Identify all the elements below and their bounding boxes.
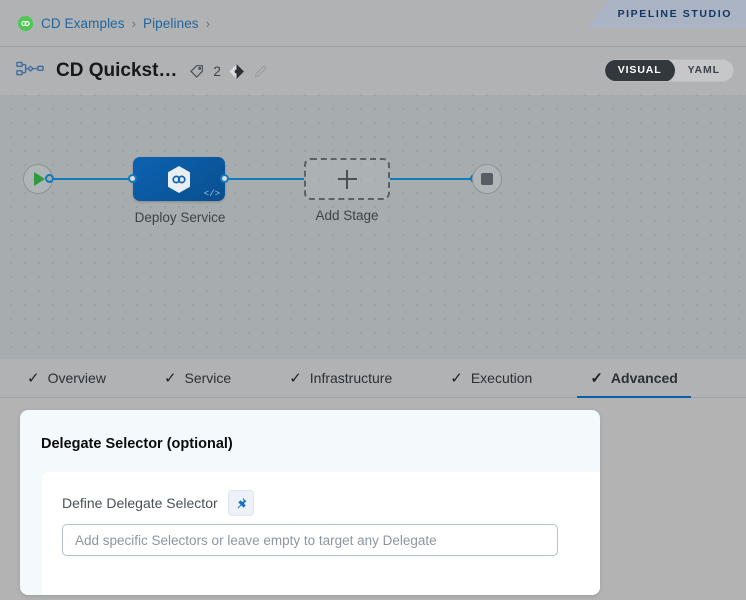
tab-service[interactable]: ✓ Service [151,359,244,398]
deployment-hexagon-icon [166,165,192,194]
tag-count: 2 [213,64,221,79]
pipeline-canvas[interactable]: </> Deploy Service Add Stage [0,95,746,359]
delegate-selector-panel: Delegate Selector (optional) Define Dele… [20,410,600,595]
start-node-port[interactable] [45,174,54,183]
stage-yaml-badge: </> [204,189,220,199]
plus-icon-vertical [346,170,348,189]
stage-tab-bar: ✓ Overview ✓ Service ✓ Infrastructure ✓ … [0,359,746,398]
check-icon: ✓ [450,371,463,386]
deploy-node-output-port[interactable] [220,174,229,183]
tab-infrastructure-label: Infrastructure [310,370,392,386]
stage-label-deploy-service: Deploy Service [110,210,250,225]
stage-node-deploy-service[interactable]: </> [133,157,225,201]
pipeline-studio-ribbon: PIPELINE STUDIO [588,0,746,28]
git-diamond-icon[interactable] [228,63,245,80]
delegate-selector-title: Delegate Selector (optional) [20,410,600,452]
edge-deploy-to-add [224,178,304,180]
check-icon: ✓ [590,371,603,386]
breadcrumb-item-cd-examples[interactable]: CD Examples [41,16,125,31]
chevron-right-icon: › [206,16,210,31]
tab-infrastructure[interactable]: ✓ Infrastructure [276,359,405,398]
pin-icon[interactable] [228,490,254,516]
tab-service-label: Service [185,370,232,386]
delegate-selector-card: Define Delegate Selector [42,472,600,595]
define-delegate-selector-row: Define Delegate Selector [42,472,600,516]
stage-label-add-stage: Add Stage [277,208,417,223]
tab-overview[interactable]: ✓ Overview [14,359,119,398]
pipeline-studio-label: PIPELINE STUDIO [618,8,732,20]
view-mode-visual[interactable]: VISUAL [605,59,675,82]
tab-overview-label: Overview [48,370,106,386]
tab-execution-label: Execution [471,370,532,386]
pipeline-end-node[interactable] [472,164,502,194]
play-icon [34,172,45,186]
tab-content-area: Delegate Selector (optional) Define Dele… [0,398,746,600]
chevron-right-icon: › [132,16,136,31]
delegate-selector-input[interactable] [62,524,558,556]
check-icon: ✓ [27,371,40,386]
page-title: CD Quickst… [56,60,177,82]
view-mode-yaml[interactable]: YAML [675,59,733,82]
tab-advanced[interactable]: ✓ Advanced [577,359,691,398]
tag-icon[interactable] [189,63,205,79]
edge-start-to-deploy [48,178,133,180]
add-stage-node[interactable] [304,158,390,200]
edge-add-to-end [390,178,475,180]
pipeline-nodes-icon [16,60,44,83]
pipeline-studio-screen: CD Examples › Pipelines › PIPELINE STUDI… [0,0,746,600]
tab-execution[interactable]: ✓ Execution [437,359,545,398]
tab-advanced-label: Advanced [611,370,678,386]
pencil-icon[interactable] [252,63,269,80]
pipeline-title-bar: CD Quickst… 2 [0,47,746,95]
define-delegate-selector-label: Define Delegate Selector [62,495,218,511]
deploy-node-input-port[interactable] [128,174,137,183]
breadcrumb-item-pipelines[interactable]: Pipelines [143,16,199,31]
view-mode-toggle[interactable]: VISUAL YAML [604,59,734,82]
check-icon: ✓ [289,371,302,386]
stop-icon [481,173,493,185]
check-icon: ✓ [164,371,177,386]
harness-module-icon [18,16,33,31]
